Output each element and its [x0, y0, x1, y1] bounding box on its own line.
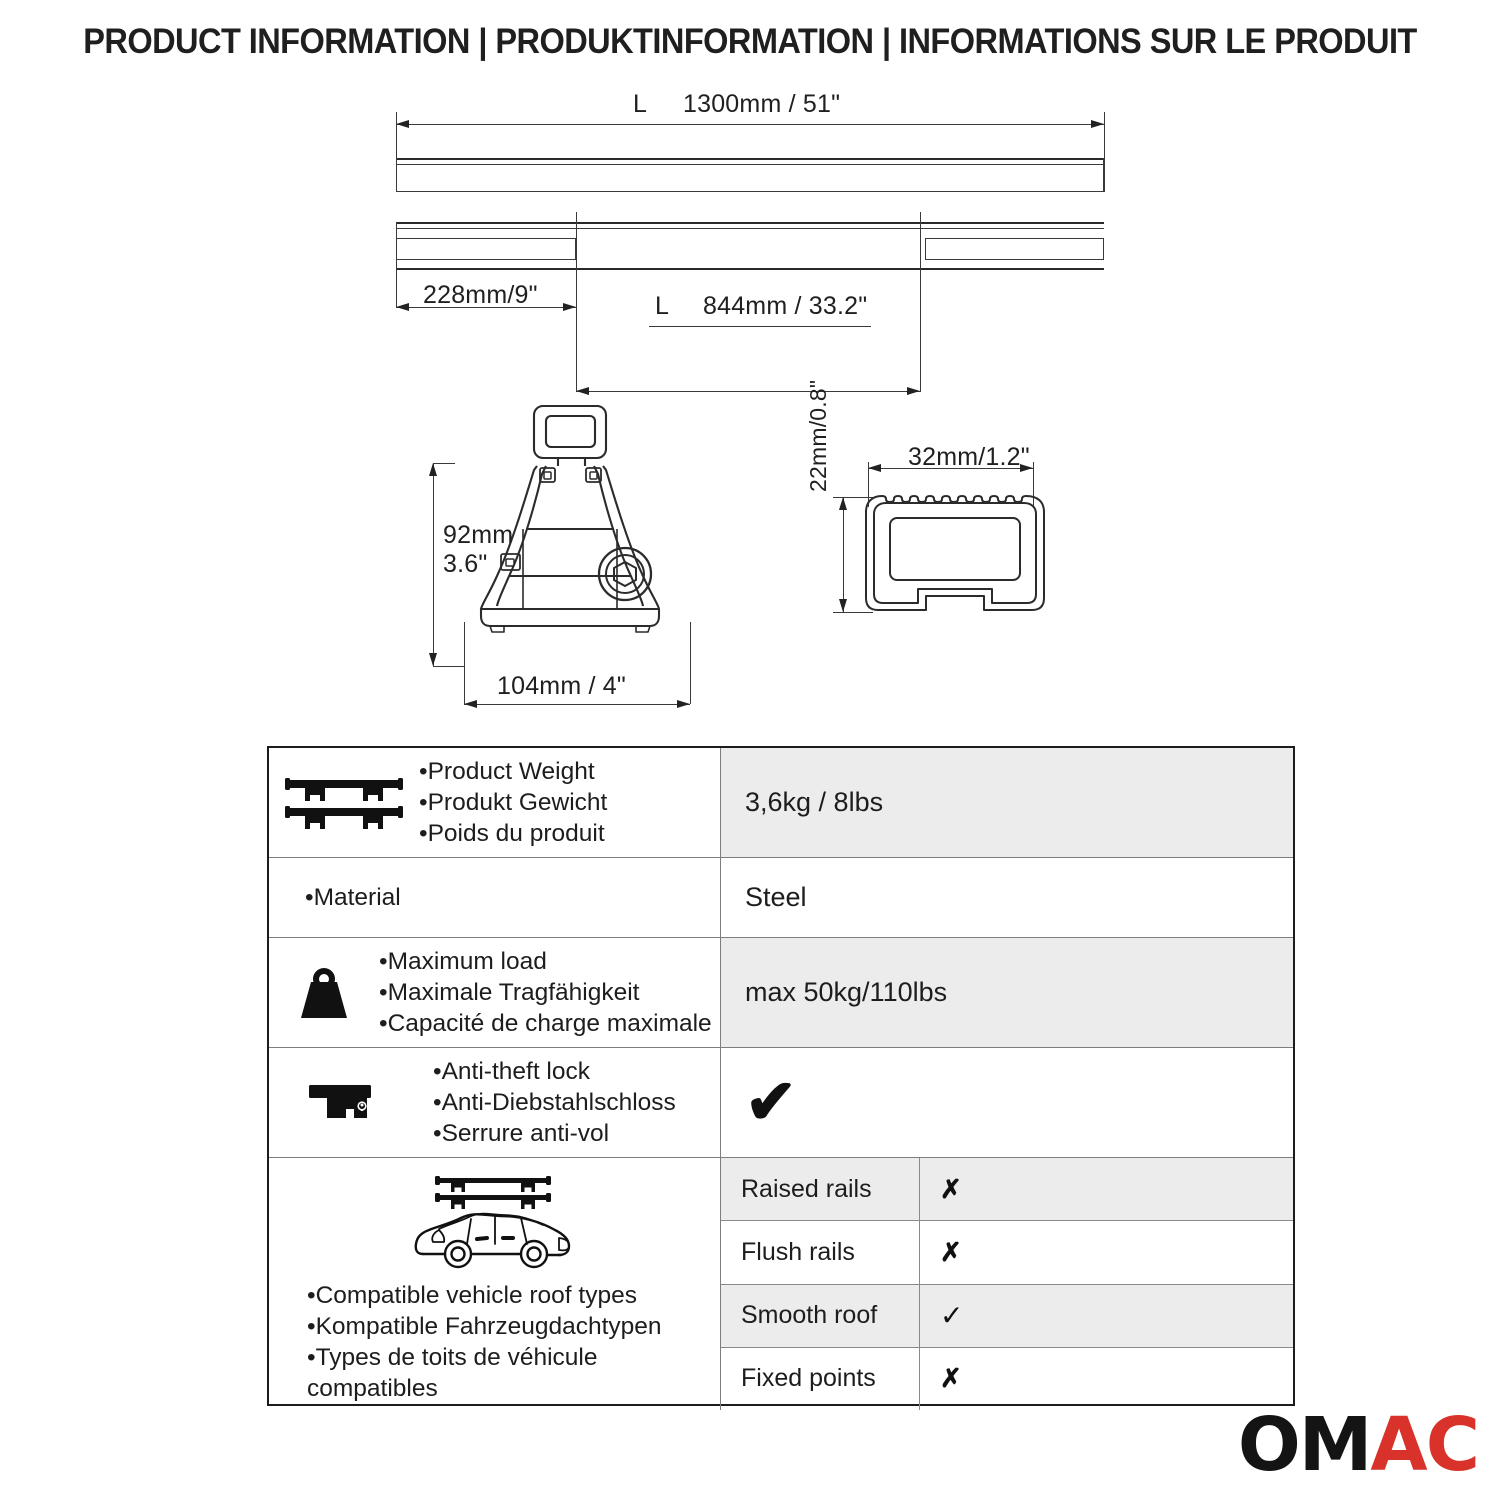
row-labels: •Material	[305, 882, 401, 913]
lock-icon	[269, 1079, 419, 1127]
page-title: PRODUCT INFORMATION | PRODUKTINFORMATION…	[53, 22, 1448, 62]
table-row-anti-theft-lock: •Anti-theft lock •Anti-Diebstahlschloss …	[269, 1048, 1293, 1158]
row-label-cell: •Product Weight •Produkt Gewicht •Poids …	[269, 748, 721, 857]
profile-height-value: 22mm/0.8"	[805, 380, 832, 492]
cross-mark: ✗	[940, 1237, 962, 1268]
row-label-cell: •Material	[269, 858, 721, 937]
row-label-cell: •Compatible vehicle roof types •Kompatib…	[269, 1158, 721, 1410]
table-row-roof-types: •Compatible vehicle roof types •Kompatib…	[269, 1158, 1293, 1410]
row-labels: •Maximum load •Maximale Tragfähigkeit •C…	[379, 946, 712, 1039]
label-line: •Anti-theft lock	[433, 1056, 676, 1087]
dimension-line-104	[464, 704, 690, 705]
tower-height-line2: 3.6"	[443, 550, 513, 579]
spec-table: •Product Weight •Produkt Gewicht •Poids …	[267, 746, 1295, 1406]
dimension-line-92	[433, 463, 434, 666]
subtable-row-value: ✗	[920, 1221, 1293, 1283]
row-value: max 50kg/110lbs	[721, 938, 1293, 1047]
spread-underline	[649, 326, 871, 327]
label-line: •Maximale Tragfähigkeit	[379, 977, 712, 1008]
ext-line-104-left	[464, 622, 465, 704]
logo-text-red: AC	[1370, 1402, 1478, 1488]
row-label-cell: •Anti-theft lock •Anti-Diebstahlschloss …	[269, 1048, 721, 1157]
subtable-row-raised-rails: Raised rails ✗	[721, 1158, 1293, 1221]
spread-label: L	[655, 292, 669, 321]
label-line: •Produkt Gewicht	[419, 787, 607, 818]
subtable-row-name: Smooth roof	[721, 1285, 920, 1347]
logo-text-black: OM	[1238, 1402, 1371, 1488]
subtable-row-flush-rails: Flush rails ✗	[721, 1221, 1293, 1284]
ext-line-92-bottom	[433, 666, 465, 667]
ext-line-228-right	[576, 212, 577, 392]
subtable-row-fixed-points: Fixed points ✗	[721, 1348, 1293, 1410]
label-line: •Kompatible Fahrzeugdachtypen	[307, 1311, 662, 1342]
dimension-line-844	[576, 391, 920, 392]
dimension-line-32	[868, 468, 1033, 469]
check-mark: ✓	[940, 1299, 963, 1332]
bar-length-label: L	[633, 90, 647, 119]
car-with-rack-icon	[269, 1172, 720, 1276]
dimension-line-22	[843, 497, 844, 612]
ext-line-844-right	[920, 212, 921, 392]
subtable-row-smooth-roof: Smooth roof ✓	[721, 1285, 1293, 1348]
subtable-row-name: Raised rails	[721, 1158, 920, 1220]
table-row-product-weight: •Product Weight •Produkt Gewicht •Poids …	[269, 748, 1293, 858]
subtable-row-name: Flush rails	[721, 1221, 920, 1283]
row-labels: •Compatible vehicle roof types •Kompatib…	[307, 1280, 662, 1404]
label-line: •Types de toits de véhicule	[307, 1342, 662, 1373]
foot-offset-value: 228mm/9"	[423, 281, 538, 310]
bar-plan-view	[396, 222, 1104, 270]
subtable-row-name: Fixed points	[721, 1348, 920, 1410]
foot-block-right	[925, 238, 1104, 260]
label-line: •Serrure anti-vol	[433, 1118, 676, 1149]
ext-line-228-left	[396, 222, 397, 307]
row-value: ✔	[721, 1048, 1293, 1157]
profile-cross-section	[862, 490, 1052, 625]
subtable-row-value: ✓	[920, 1285, 1293, 1347]
ext-line-104-right	[690, 622, 691, 704]
spread-value: 844mm / 33.2"	[703, 292, 867, 321]
tower-height-line1: 92mm	[443, 521, 513, 550]
subtable-row-value: ✗	[920, 1348, 1293, 1410]
label-line: •Material	[305, 882, 401, 913]
product-information-page: PRODUCT INFORMATION | PRODUKTINFORMATION…	[0, 0, 1500, 1500]
weight-icon	[269, 962, 379, 1024]
cross-mark: ✗	[940, 1363, 962, 1394]
row-value: Steel	[721, 858, 1293, 937]
omac-logo: OMAC	[1238, 1408, 1478, 1482]
label-line: •Anti-Diebstahlschloss	[433, 1087, 676, 1118]
cross-mark: ✗	[940, 1174, 962, 1205]
row-labels: •Product Weight •Produkt Gewicht •Poids …	[419, 756, 607, 849]
label-line: compatibles	[307, 1373, 662, 1404]
row-labels: •Anti-theft lock •Anti-Diebstahlschloss …	[433, 1056, 676, 1149]
bar-length-value: 1300mm / 51"	[683, 90, 840, 119]
bar-top-view	[396, 158, 1104, 192]
label-line: •Product Weight	[419, 756, 607, 787]
dimension-line-1300	[396, 124, 1104, 125]
roof-type-subtable: Raised rails ✗ Flush rails ✗ Smooth roof…	[721, 1158, 1293, 1410]
check-mark: ✔	[745, 1078, 797, 1128]
subtable-row-value: ✗	[920, 1158, 1293, 1220]
tower-height-value: 92mm 3.6"	[443, 521, 513, 579]
label-line: •Capacité de charge maximale	[379, 1008, 712, 1039]
table-row-maximum-load: •Maximum load •Maximale Tragfähigkeit •C…	[269, 938, 1293, 1048]
row-value: 3,6kg / 8lbs	[721, 748, 1293, 857]
tower-width-value: 104mm / 4"	[497, 672, 626, 701]
row-label-cell: •Maximum load •Maximale Tragfähigkeit •C…	[269, 938, 721, 1047]
label-line: •Compatible vehicle roof types	[307, 1280, 662, 1311]
ext-line-92-top	[433, 463, 455, 464]
ext-line-right-1300	[1104, 112, 1105, 192]
label-line: •Maximum load	[379, 946, 712, 977]
label-line: •Poids du produit	[419, 818, 607, 849]
foot-block-left	[396, 238, 576, 260]
crossbars-icon	[269, 774, 419, 832]
dimension-line-228	[396, 307, 576, 308]
table-row-material: •Material Steel	[269, 858, 1293, 938]
